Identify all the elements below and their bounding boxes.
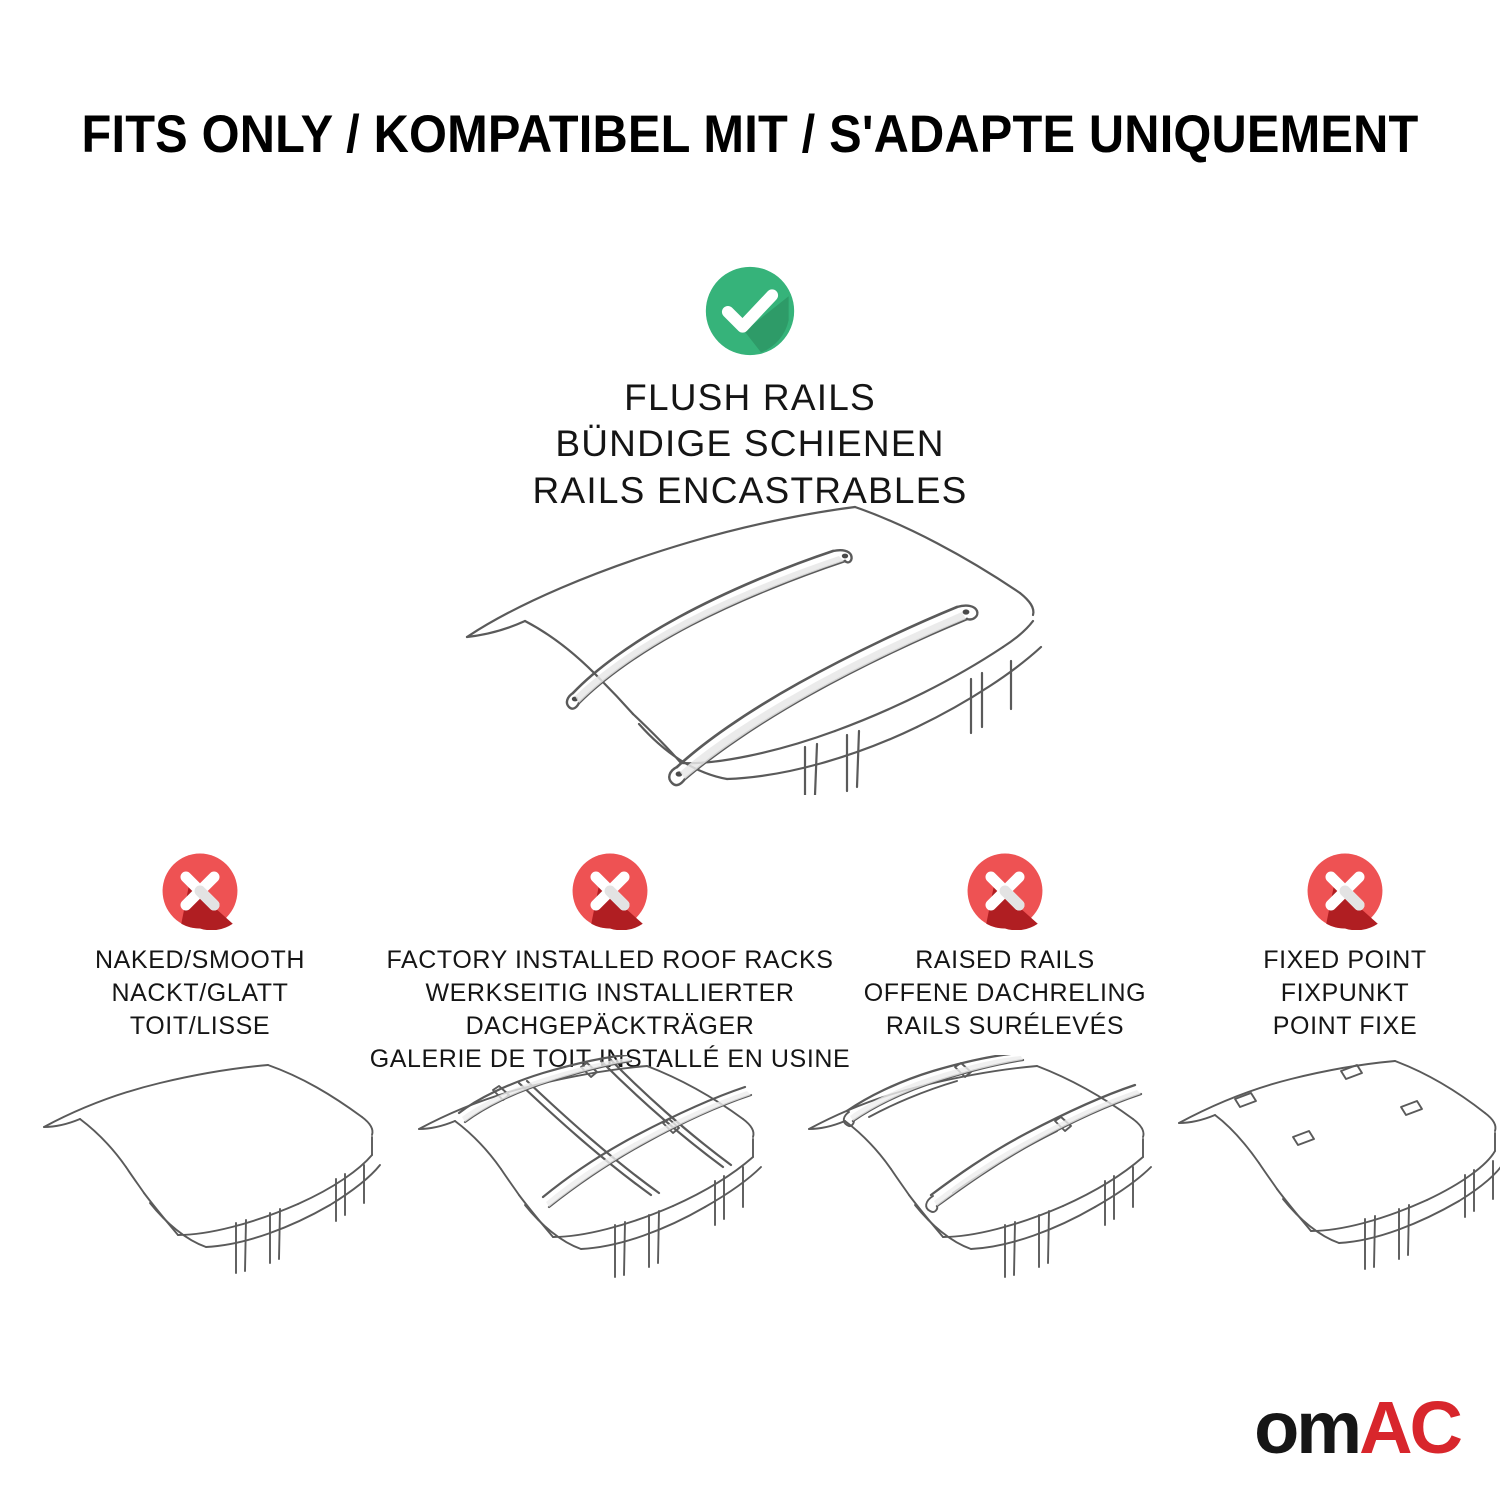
incompatible-label-line-en: FACTORY INSTALLED ROOF RACKS bbox=[370, 944, 851, 977]
incompatible-label-line-fr: POINT FIXE bbox=[1263, 1010, 1427, 1043]
omac-logo: omAC bbox=[1254, 1391, 1460, 1465]
car-roof-raised-rails-illustration bbox=[805, 1055, 1175, 1300]
logo-text-dark: om bbox=[1254, 1386, 1359, 1469]
incompatible-label-line-en: NAKED/SMOOTH bbox=[95, 944, 305, 977]
incompatible-illustrations-row bbox=[0, 1055, 1500, 1300]
green-check-circle-icon bbox=[704, 265, 796, 357]
incompatible-label-line-en: FIXED POINT bbox=[1263, 944, 1427, 977]
incompatible-label: RAISED RAILS OFFENE DACHRELING RAILS SUR… bbox=[864, 944, 1146, 1043]
incompatible-label-line-de-2: DACHGEPÄCKTRÄGER bbox=[370, 1010, 851, 1043]
car-roof-naked-smooth-illustration bbox=[40, 1055, 390, 1300]
incompatible-item-fixed-point: FIXED POINT FIXPUNKT POINT FIXE bbox=[1190, 852, 1500, 1076]
red-x-circle-icon bbox=[161, 852, 239, 930]
compatible-label: FLUSH RAILS BÜNDIGE SCHIENEN RAILS ENCAS… bbox=[533, 375, 968, 514]
incompatible-section: NAKED/SMOOTH NACKT/GLATT TOIT/LISSE FACT… bbox=[0, 852, 1500, 1076]
logo-text-accent: AC bbox=[1359, 1386, 1460, 1469]
incompatible-label: NAKED/SMOOTH NACKT/GLATT TOIT/LISSE bbox=[95, 944, 305, 1043]
incompatible-label-line-de: FIXPUNKT bbox=[1263, 977, 1427, 1010]
incompatible-item-raised-rails: RAISED RAILS OFFENE DACHRELING RAILS SUR… bbox=[820, 852, 1190, 1076]
incompatible-item-factory-roof-racks: FACTORY INSTALLED ROOF RACKS WERKSEITIG … bbox=[400, 852, 820, 1076]
red-x-circle-icon bbox=[966, 852, 1044, 930]
car-roof-fixed-point-illustration bbox=[1175, 1055, 1500, 1300]
incompatible-label-line-de: NACKT/GLATT bbox=[95, 977, 305, 1010]
incompatible-label-line-de: OFFENE DACHRELING bbox=[864, 977, 1146, 1010]
incompatible-item-naked-smooth: NAKED/SMOOTH NACKT/GLATT TOIT/LISSE bbox=[0, 852, 400, 1076]
page-title: FITS ONLY / KOMPATIBEL MIT / S'ADAPTE UN… bbox=[60, 104, 1440, 165]
car-roof-with-flush-rails-illustration bbox=[455, 495, 1055, 795]
compatible-label-line-en: FLUSH RAILS bbox=[533, 375, 968, 421]
compatible-section: FLUSH RAILS BÜNDIGE SCHIENEN RAILS ENCAS… bbox=[0, 265, 1500, 514]
incompatible-label-line-en: RAISED RAILS bbox=[864, 944, 1146, 977]
incompatible-label-line-fr: RAILS SURÉLEVÉS bbox=[864, 1010, 1146, 1043]
page-header: FITS ONLY / KOMPATIBEL MIT / S'ADAPTE UN… bbox=[0, 104, 1500, 165]
compatible-label-line-de: BÜNDIGE SCHIENEN bbox=[533, 421, 968, 467]
red-x-circle-icon bbox=[1306, 852, 1384, 930]
incompatible-label-line-fr: TOIT/LISSE bbox=[95, 1010, 305, 1043]
car-roof-factory-installed-roof-racks-illustration bbox=[415, 1055, 785, 1300]
incompatible-label-line-de-1: WERKSEITIG INSTALLIERTER bbox=[370, 977, 851, 1010]
incompatible-label: FIXED POINT FIXPUNKT POINT FIXE bbox=[1263, 944, 1427, 1043]
red-x-circle-icon bbox=[571, 852, 649, 930]
